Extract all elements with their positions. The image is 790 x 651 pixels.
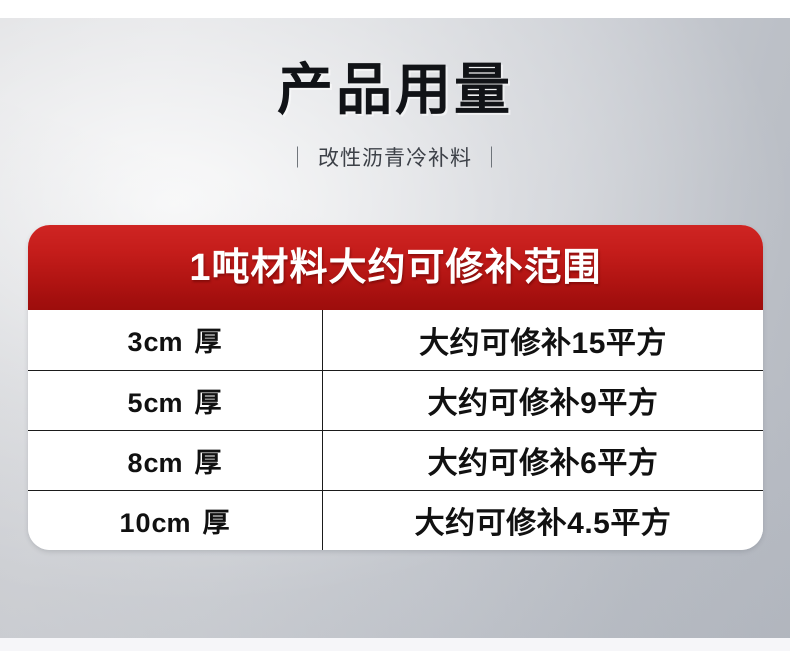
thickness-value: 8: [127, 448, 143, 478]
thickness-value: 5: [127, 388, 143, 418]
table-row: 5cm厚 大约可修补9平方: [28, 370, 763, 430]
coverage-cell: 大约可修补15平方: [323, 310, 764, 370]
thickness-value: 3: [127, 327, 143, 357]
usage-banner: 1吨材料大约可修补范围: [28, 225, 763, 310]
page-title: 产品用量: [0, 62, 790, 118]
thickness-suffix: 厚: [203, 508, 231, 538]
subtitle-rule-right: ｜: [472, 147, 512, 170]
coverage-cell: 大约可修补4.5平方: [323, 490, 764, 550]
table-row: 3cm厚 大约可修补15平方: [28, 310, 763, 370]
thickness-cell: 5cm厚: [28, 370, 323, 430]
thickness-cell: 8cm厚: [28, 430, 323, 490]
usage-table: 3cm厚 大约可修补15平方 5cm厚 大约可修补9平方 8cm厚 大约可修补6…: [28, 310, 763, 550]
usage-table-body: 3cm厚 大约可修补15平方 5cm厚 大约可修补9平方 8cm厚 大约可修补6…: [28, 310, 763, 550]
thickness-unit: cm: [144, 388, 183, 418]
coverage-cell: 大约可修补9平方: [323, 370, 764, 430]
product-usage-page: 产品用量 ｜改性沥青冷补料｜ 1吨材料大约可修补范围 3cm厚 大约可修补15平…: [0, 0, 790, 651]
thickness-unit: cm: [144, 327, 183, 357]
coverage-cell: 大约可修补6平方: [323, 430, 764, 490]
thickness-suffix: 厚: [195, 388, 223, 418]
table-row: 8cm厚 大约可修补6平方: [28, 430, 763, 490]
thickness-cell: 10cm厚: [28, 490, 323, 550]
thickness-value: 10: [119, 508, 151, 538]
page-subtitle: ｜改性沥青冷补料｜: [0, 148, 790, 169]
thickness-unit: cm: [144, 448, 183, 478]
table-row: 10cm厚 大约可修补4.5平方: [28, 490, 763, 550]
usage-card: 1吨材料大约可修补范围 3cm厚 大约可修补15平方 5cm厚 大约可修补9平方…: [28, 225, 763, 550]
thickness-unit: cm: [152, 508, 191, 538]
thickness-cell: 3cm厚: [28, 310, 323, 370]
subtitle-rule-left: ｜: [278, 147, 318, 170]
bottom-white-band: [0, 638, 790, 651]
thickness-suffix: 厚: [195, 327, 223, 357]
subtitle-text: 改性沥青冷补料: [318, 147, 472, 170]
top-white-band: [0, 0, 790, 18]
usage-banner-label: 1吨材料大约可修补范围: [189, 249, 601, 287]
thickness-suffix: 厚: [195, 448, 223, 478]
